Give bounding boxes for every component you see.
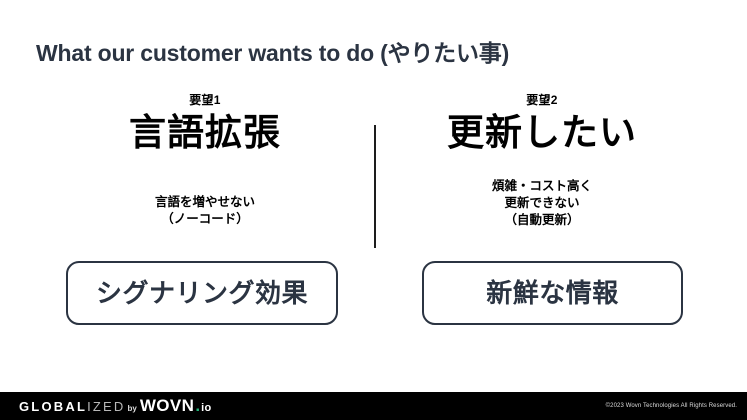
logo-by-text: by <box>128 404 137 413</box>
requirement-column-2: 要望2 更新したい 煩雑・コスト高く 更新できない （自動更新） <box>377 92 707 229</box>
outcome-box-2: 新鮮な情報 <box>422 261 683 325</box>
slide-footer: GLOBAL IZED by WOVN . io ©2023 Wovn Tech… <box>0 392 747 420</box>
logo-wovn-text: WOVN <box>140 396 194 416</box>
wovn-logo: GLOBAL IZED by WOVN . io <box>19 396 212 416</box>
requirement-1-description: 言語を増やせない （ノーコード） <box>40 194 370 228</box>
logo-io-text: io <box>201 402 212 414</box>
requirement-2-label: 要望2 <box>377 92 707 108</box>
column-divider <box>374 125 376 248</box>
outcome-box-1: シグナリング効果 <box>66 261 338 325</box>
slide-canvas: What our customer wants to do (やりたい事) 要望… <box>0 0 747 420</box>
outcome-2-label: 新鮮な情報 <box>486 278 619 308</box>
requirement-2-heading: 更新したい <box>377 110 707 156</box>
outcome-1-label: シグナリング効果 <box>96 278 308 308</box>
requirement-2-description: 煩雑・コスト高く 更新できない （自動更新） <box>377 178 707 229</box>
requirement-1-label: 要望1 <box>40 92 370 108</box>
logo-global-text: GLOBAL <box>19 399 87 414</box>
copyright-text: ©2023 Wovn Technologies All Rights Reser… <box>606 403 737 409</box>
page-title: What our customer wants to do (やりたい事) <box>36 34 509 68</box>
logo-dot-icon: . <box>195 396 200 416</box>
requirement-column-1: 要望1 言語拡張 言語を増やせない （ノーコード） <box>40 92 370 228</box>
requirement-1-heading: 言語拡張 <box>40 110 370 156</box>
logo-ized-text: IZED <box>87 399 125 414</box>
